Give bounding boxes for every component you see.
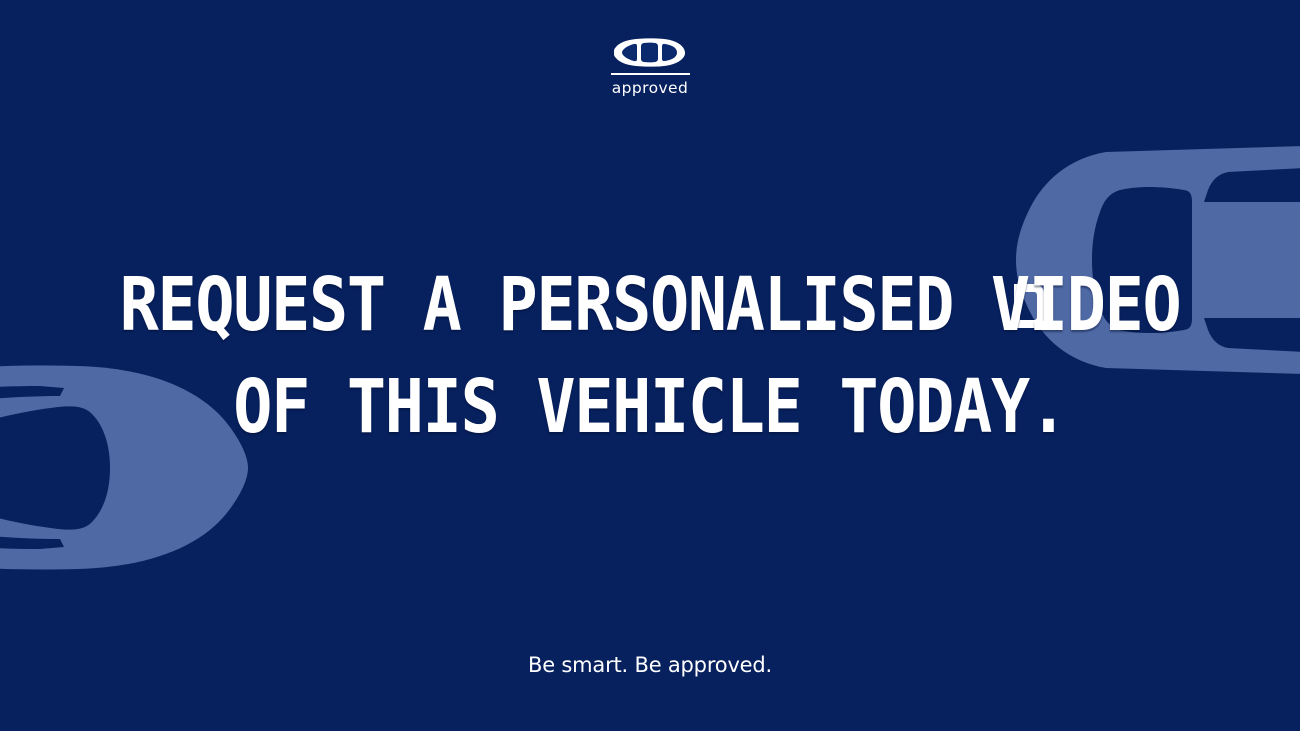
promo-banner: approved REQUEST A PERSONALISED VIDEO OF… [0,0,1300,731]
tagline: Be smart. Be approved. [0,655,1300,676]
headline-line-1: REQUEST A PERSONALISED VIDEO [78,268,1222,342]
headline: REQUEST A PERSONALISED VIDEO OF THIS VEH… [0,268,1300,444]
headline-line-2: OF THIS VEHICLE TODAY. [78,370,1222,444]
approved-car-logo-icon [614,38,686,67]
logo-wordmark: approved [612,81,688,97]
logo-divider [611,73,690,75]
brand-logo: approved [0,38,1300,97]
